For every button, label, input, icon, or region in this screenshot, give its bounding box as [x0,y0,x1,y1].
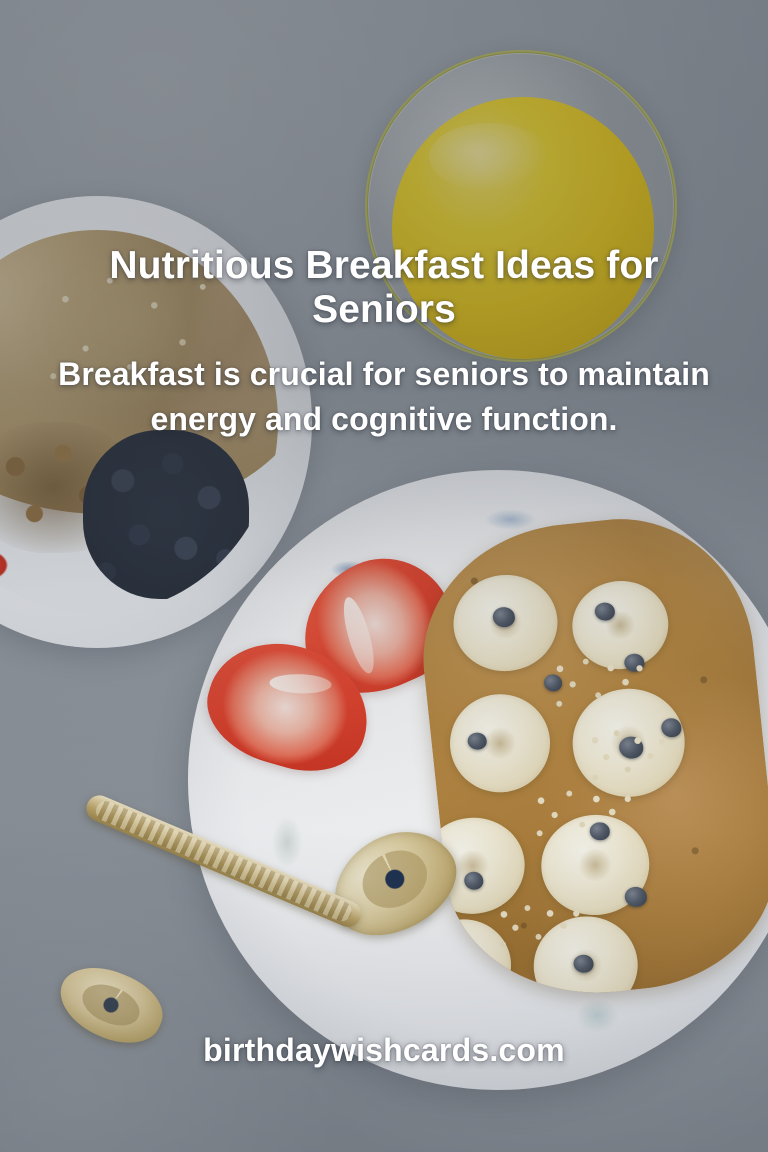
site-url-watermark: birthdaywishcards.com [0,1032,768,1069]
text-overlay: Nutritious Breakfast Ideas for Seniors B… [0,0,768,1152]
page-title: Nutritious Breakfast Ideas for Seniors [44,244,724,331]
breakfast-pin-card: Nutritious Breakfast Ideas for Seniors B… [0,0,768,1152]
page-subtitle: Breakfast is crucial for seniors to main… [40,352,728,443]
